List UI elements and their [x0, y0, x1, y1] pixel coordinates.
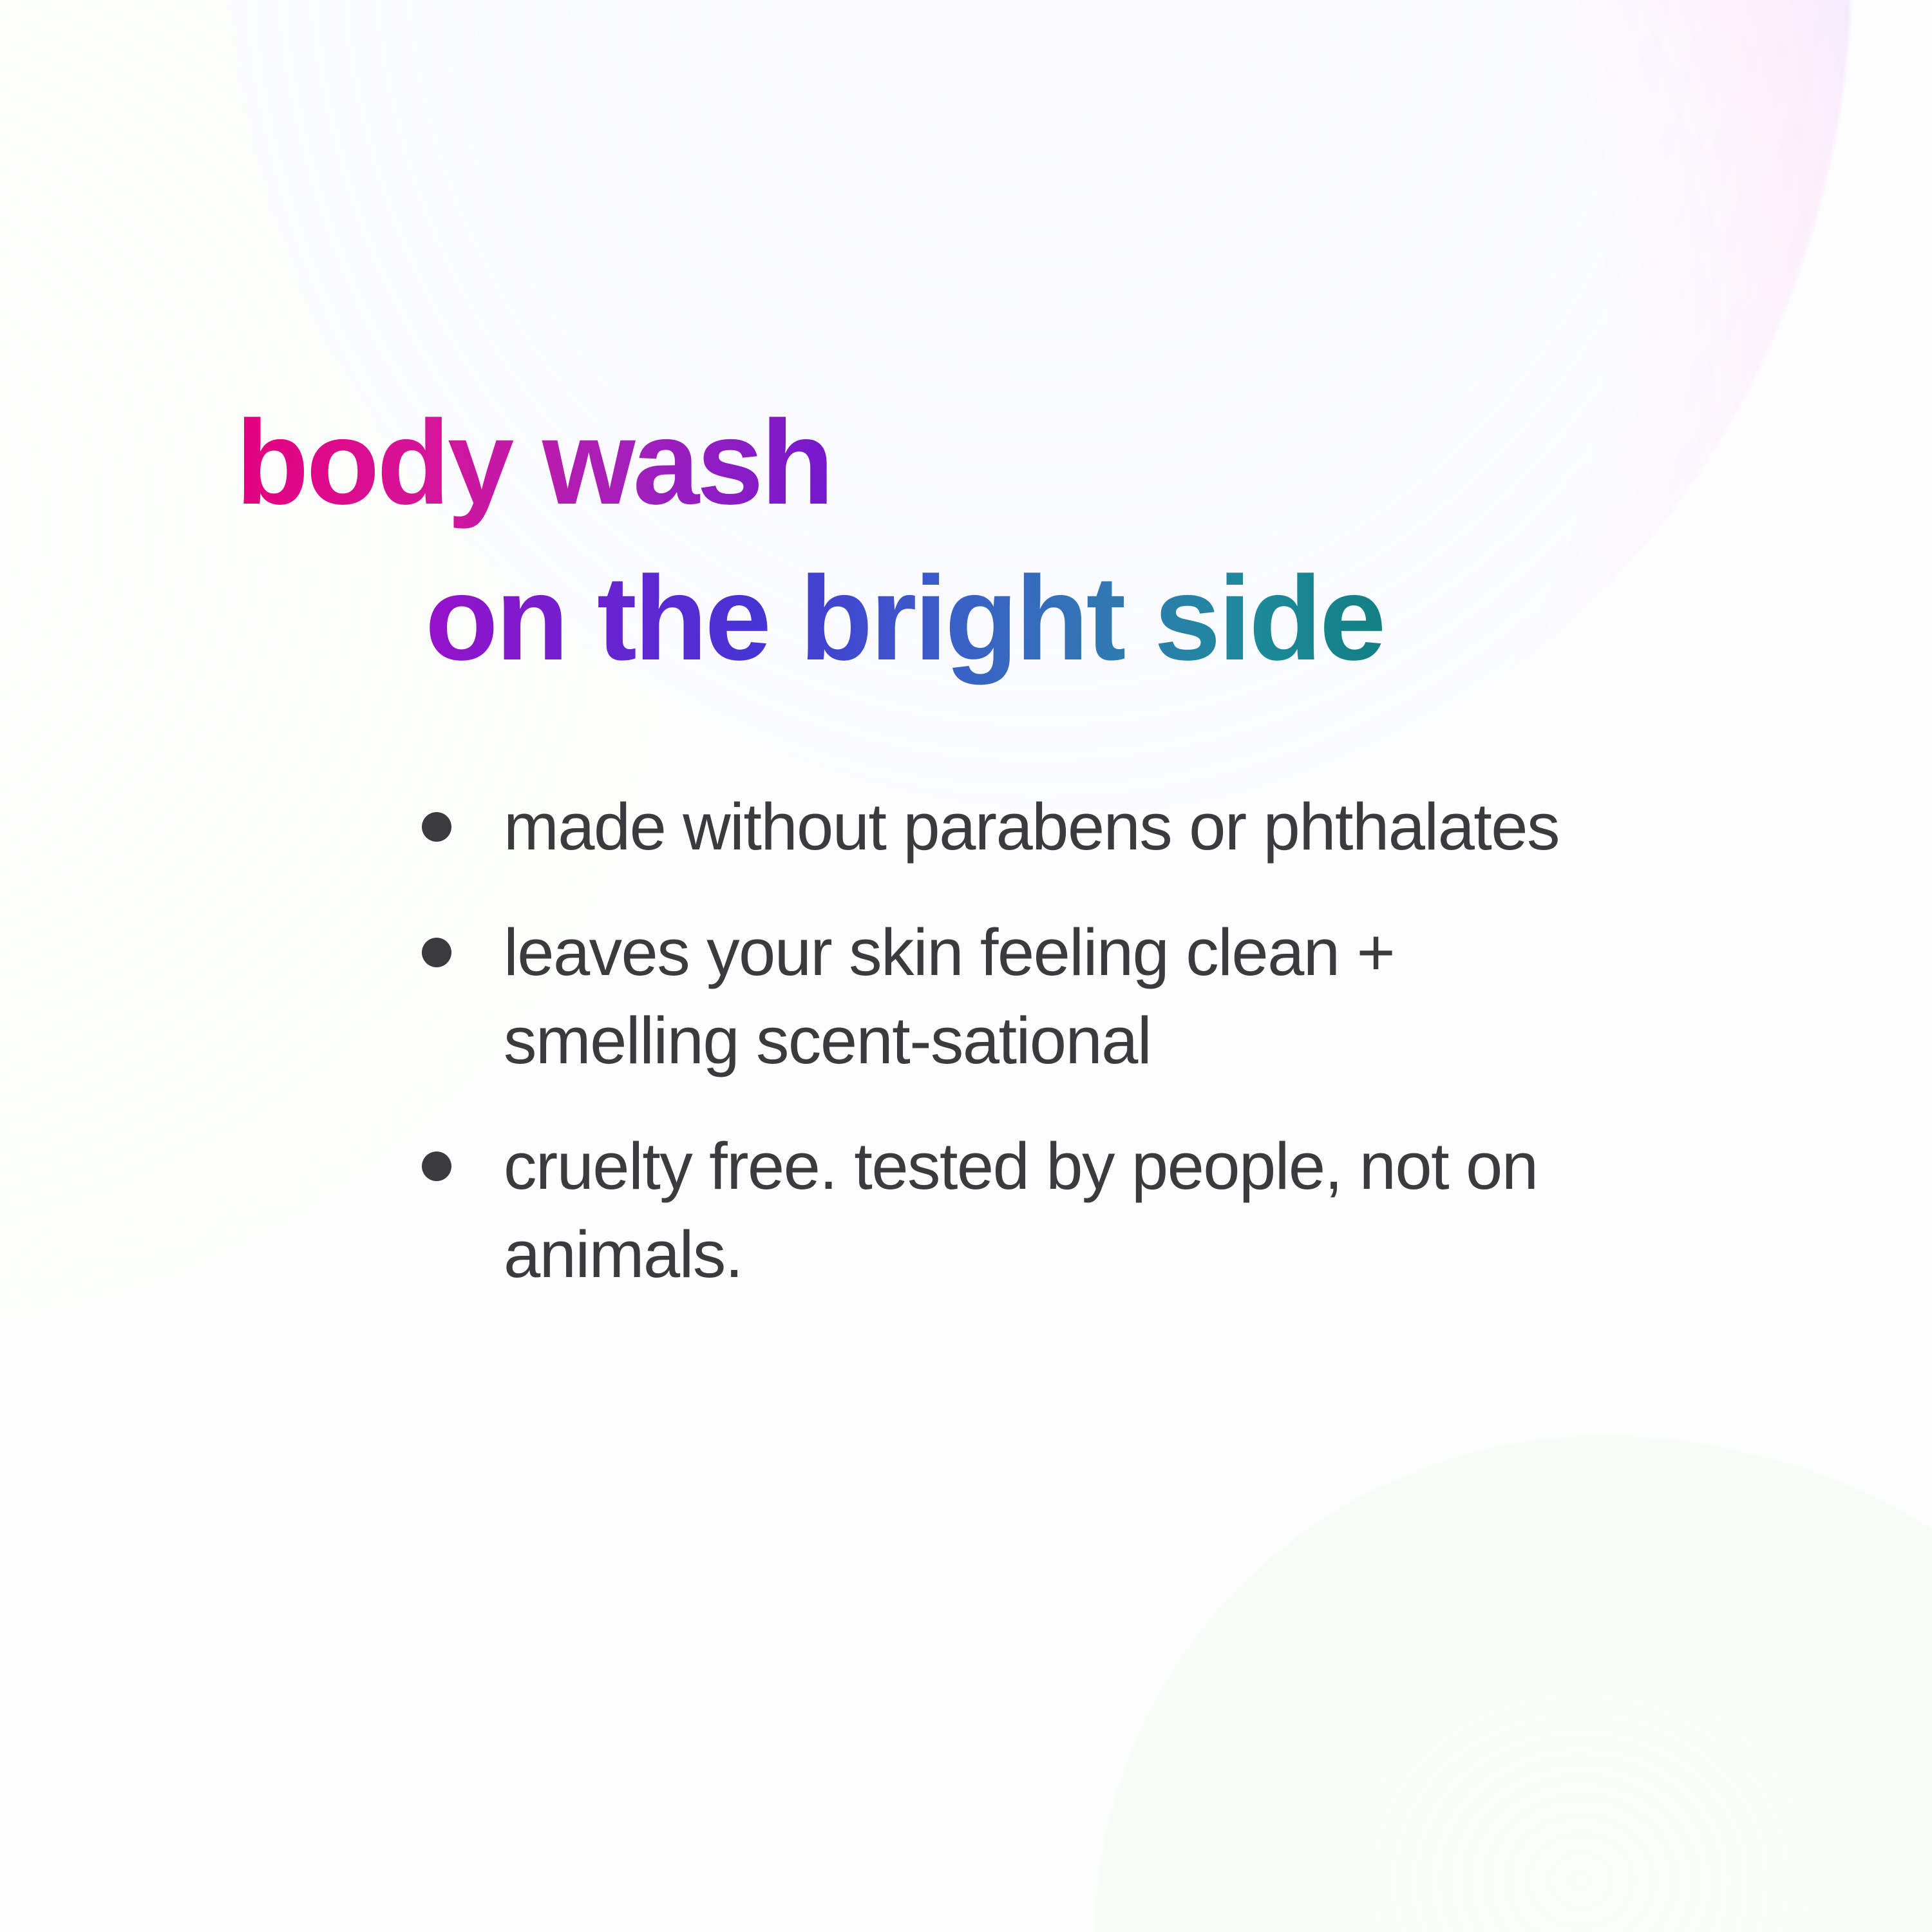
- benefit-text: leaves your skin feeling clean + smellin…: [504, 908, 1645, 1084]
- benefits-list: made without parabens or phthalates leav…: [422, 782, 1645, 1298]
- benefit-text: cruelty free. tested by people, not on a…: [504, 1122, 1645, 1298]
- benefit-text: made without parabens or phthalates: [504, 782, 1645, 871]
- bullet-dot-icon: [422, 938, 451, 967]
- headline-line-2: on the bright side: [425, 541, 1383, 697]
- list-item: leaves your skin feeling clean + smellin…: [422, 908, 1645, 1084]
- list-item: cruelty free. tested by people, not on a…: [422, 1122, 1645, 1298]
- bullet-dot-icon: [422, 812, 451, 842]
- bullet-dot-icon: [422, 1151, 451, 1181]
- content-layer: body wash on the bright side made withou…: [0, 0, 1932, 1932]
- headline-block: body wash on the bright side: [0, 385, 1932, 697]
- list-item: made without parabens or phthalates: [422, 782, 1645, 871]
- headline-line-1: body wash: [236, 385, 831, 541]
- product-benefits-graphic: body wash on the bright side made withou…: [0, 0, 1932, 1932]
